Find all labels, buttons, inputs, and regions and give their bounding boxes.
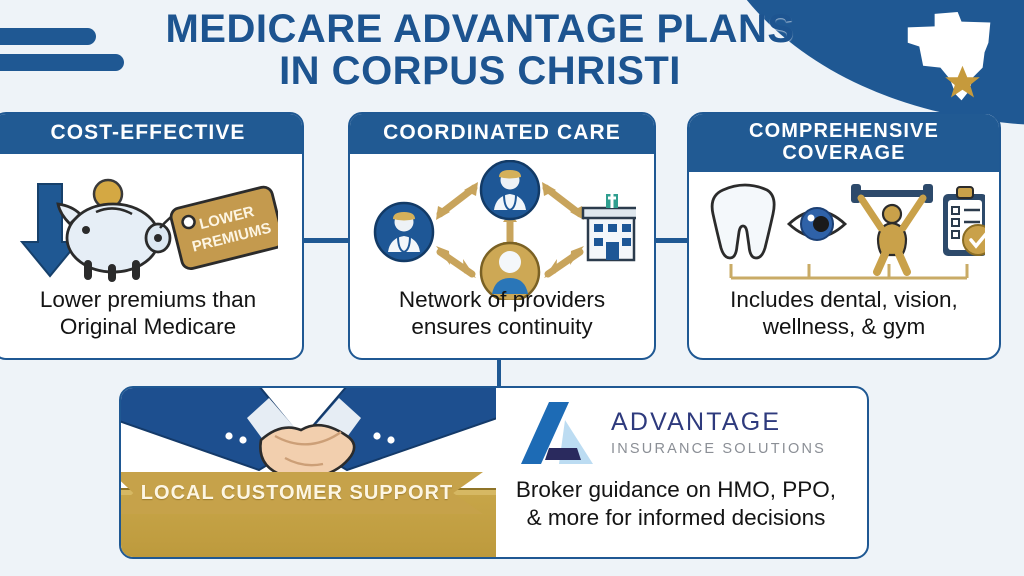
- doctor-avatar-icon: [481, 161, 539, 219]
- card-cost-effective-body: LOWER PREMIUMS Lower premiums than Origi…: [0, 154, 302, 354]
- logo-name: ADVANTAGE: [611, 410, 826, 435]
- caption-line-2: wellness, & gym: [697, 313, 991, 340]
- decor-bars: [0, 28, 124, 80]
- card-comprehensive-coverage[interactable]: COMPREHENSIVE COVERAGE: [687, 112, 1001, 360]
- local-customer-support-ribbon: LOCAL CUSTOMER SUPPORT: [121, 472, 483, 514]
- caption-line-2: Original Medicare: [2, 313, 294, 340]
- card-local-customer-support[interactable]: LOCAL CUSTOMER SUPPORT ADVANTAGE INSURAN…: [119, 386, 869, 559]
- logo-subtitle: INSURANCE SOLUTIONS: [611, 442, 826, 457]
- caption-line-1: Network of providers: [358, 286, 646, 313]
- weightlifter-icon: [851, 184, 933, 272]
- eye-icon: [789, 208, 845, 240]
- caption-line-1: Lower premiums than: [2, 286, 294, 313]
- price-tag-icon: LOWER PREMIUMS: [169, 185, 278, 270]
- card-cost-effective-art: LOWER PREMIUMS: [0, 154, 302, 304]
- card-cost-effective[interactable]: COST-EFFECTIVE: [0, 112, 304, 360]
- card-comprehensive-coverage-body: Includes dental, vision, wellness, & gym: [689, 172, 999, 354]
- advantage-logo-text: ADVANTAGE INSURANCE SOLUTIONS: [611, 410, 826, 457]
- card-coordinated-care[interactable]: COORDINATED CARE: [348, 112, 656, 360]
- bottom-card-caption: Broker guidance on HMO, PPO, & more for …: [493, 476, 859, 531]
- piggy-bank-icon: [58, 204, 170, 278]
- caption-line-2: ensures continuity: [358, 313, 646, 340]
- connector-card2-bottom: [497, 360, 501, 388]
- caption-line-1: Includes dental, vision,: [697, 286, 991, 313]
- clipboard-check-icon: [943, 187, 985, 256]
- card-cost-effective-heading: COST-EFFECTIVE: [0, 114, 302, 154]
- card-comprehensive-coverage-art: [689, 172, 999, 300]
- decor-bar-1: [0, 28, 96, 45]
- card-coordinated-care-heading: COORDINATED CARE: [350, 114, 654, 154]
- card-comprehensive-coverage-heading: COMPREHENSIVE COVERAGE: [689, 114, 999, 172]
- connector-card2-card3: [655, 238, 688, 243]
- texas-map-icon: [902, 8, 998, 112]
- card-coordinated-care-body: Network of providers ensures continuity: [350, 154, 654, 354]
- doctor-avatar-icon: [375, 203, 433, 261]
- hospital-icon: [583, 194, 636, 260]
- card-cost-effective-caption: Lower premiums than Original Medicare: [0, 286, 302, 340]
- tooth-icon: [712, 185, 774, 258]
- advantage-a-logo-icon: [519, 402, 599, 464]
- heading-line-1: COMPREHENSIVE: [693, 120, 995, 142]
- advantage-logo[interactable]: ADVANTAGE INSURANCE SOLUTIONS: [519, 402, 826, 464]
- card-comprehensive-coverage-caption: Includes dental, vision, wellness, & gym: [689, 286, 999, 340]
- connector-card1-card2: [303, 238, 349, 243]
- card-coordinated-care-art: [350, 154, 654, 304]
- caption-line-1: Broker guidance on HMO, PPO,: [493, 476, 859, 504]
- handshake-art: LOCAL CUSTOMER SUPPORT: [121, 388, 496, 557]
- card-coordinated-care-caption: Network of providers ensures continuity: [350, 286, 654, 340]
- decor-bar-2: [0, 54, 124, 71]
- infographic-canvas: MEDICARE ADVANTAGE PLANS IN CORPUS CHRIS…: [0, 0, 1024, 576]
- bracket-icon: [731, 264, 967, 278]
- heading-line-2: COVERAGE: [693, 142, 995, 164]
- caption-line-2: & more for informed decisions: [493, 504, 859, 532]
